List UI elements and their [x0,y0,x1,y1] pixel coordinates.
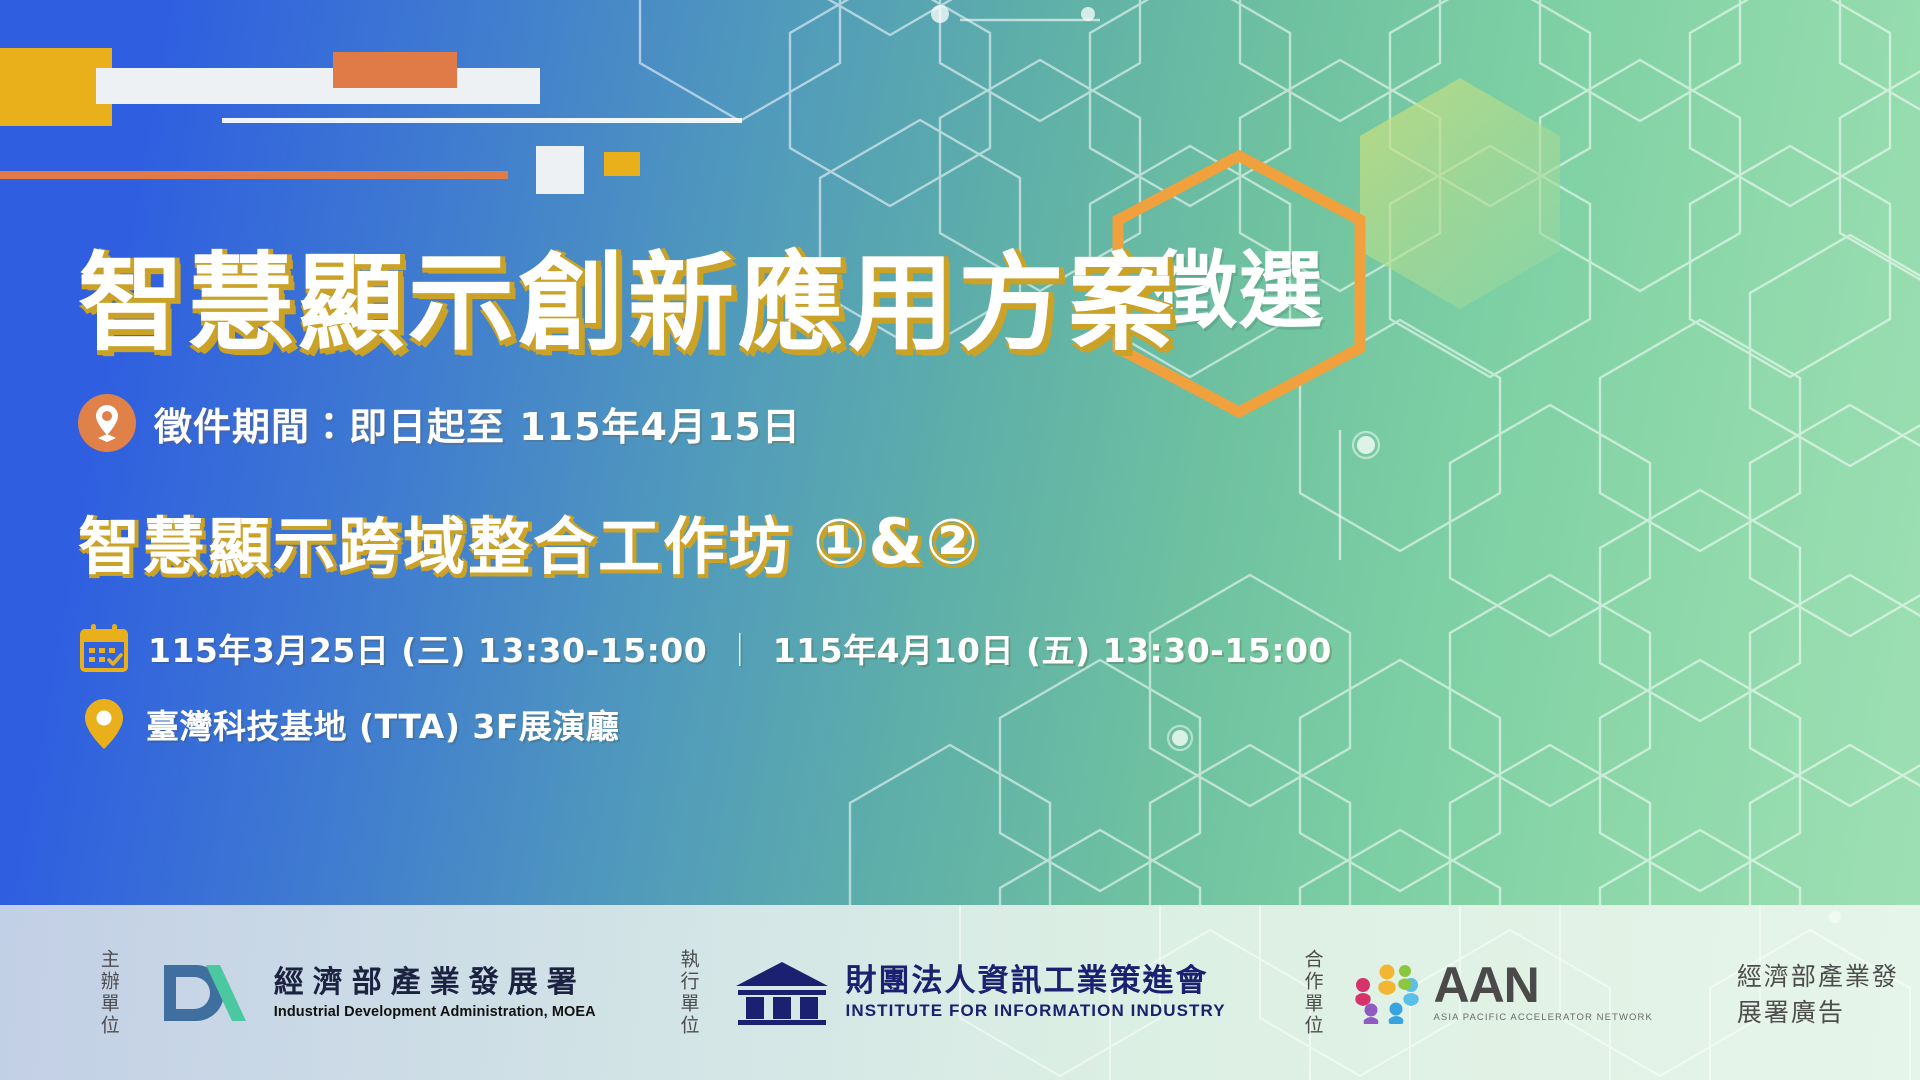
date-row: 115年3月25日 (三) 13:30-15:00｜115年4月10日 (五) … [78,622,1378,674]
workshop-title: 智慧顯示跨域整合工作坊 [78,496,793,586]
partner-name-main: AAN [1433,962,1652,1010]
bar-thin-orange [0,171,508,179]
ida-moea-logo-icon [154,957,260,1029]
footer-bar: 主辦單位 經濟部產業發展署 Industrial Development Adm… [0,905,1920,1080]
executor-logo-block: 財團法人資訊工業策進會 INSTITUTE FOR INFORMATION IN… [700,960,1226,1026]
partner-logo-block: AAN ASIA PACIFIC ACCELERATOR NETWORK [1323,962,1652,1024]
organizer-name-en: Industrial Development Administration, M… [274,1004,596,1020]
date-text: 115年3月25日 (三) 13:30-15:00｜115年4月10日 (五) … [148,624,1332,672]
date-second: 115年4月10日 (五) 13:30-15:00 [773,631,1332,670]
organizer-logo-block: 經濟部產業發展署 Industrial Development Administ… [120,957,596,1029]
date-first: 115年3月25日 (三) 13:30-15:00 [148,631,707,670]
executor-label: 執行單位 [676,949,700,1037]
executor-name-en: INSTITUTE FOR INFORMATION INDUSTRY [846,1001,1226,1021]
venue-row: 臺灣科技基地 (TTA) 3F展演廳 [78,698,1378,750]
venue-text: 臺灣科技基地 (TTA) 3F展演廳 [146,700,619,748]
calendar-icon [78,622,130,674]
map-pin-icon [82,698,126,750]
main-title: 智慧顯示創新應用方案 [78,248,1378,360]
iii-institute-logo-icon [734,960,830,1026]
partner-name-sub: ASIA PACIFIC ACCELERATOR NETWORK [1433,1012,1652,1023]
promotional-banner: 徵選 智慧顯示創新應用方案 徵件期間：即日起至 115年4月15日 智慧顯示跨域… [0,0,1920,1080]
workshop-title-row: 智慧顯示跨域整合工作坊 ①&② [78,496,1378,586]
date-separator: ｜ [723,631,757,670]
executor-name-cn: 財團法人資訊工業策進會 [846,964,1226,1000]
organizer-label: 主辦單位 [96,949,120,1037]
bar-white [96,68,540,104]
location-pin-flag-icon [78,394,136,452]
aan-logo-icon [1351,962,1425,1024]
partner-label: 合作單位 [1300,949,1324,1037]
decorative-bars [0,0,760,220]
footer-credit: 經濟部產業發展署廣告 [1737,957,1920,1029]
deadline-row: 徵件期間：即日起至 115年4月15日 [78,394,1378,452]
banner-content: 智慧顯示創新應用方案 徵件期間：即日起至 115年4月15日 智慧顯示跨域整合工… [78,248,1378,750]
square-yellow [604,152,640,176]
square-white [536,146,584,194]
bar-thin-white [222,118,742,123]
bar-orange [333,52,457,88]
workshop-session-numbers: ①&② [813,505,981,578]
deadline-text: 徵件期間：即日起至 115年4月15日 [154,396,801,451]
organizer-name-cn: 經濟部產業發展署 [274,965,596,1001]
